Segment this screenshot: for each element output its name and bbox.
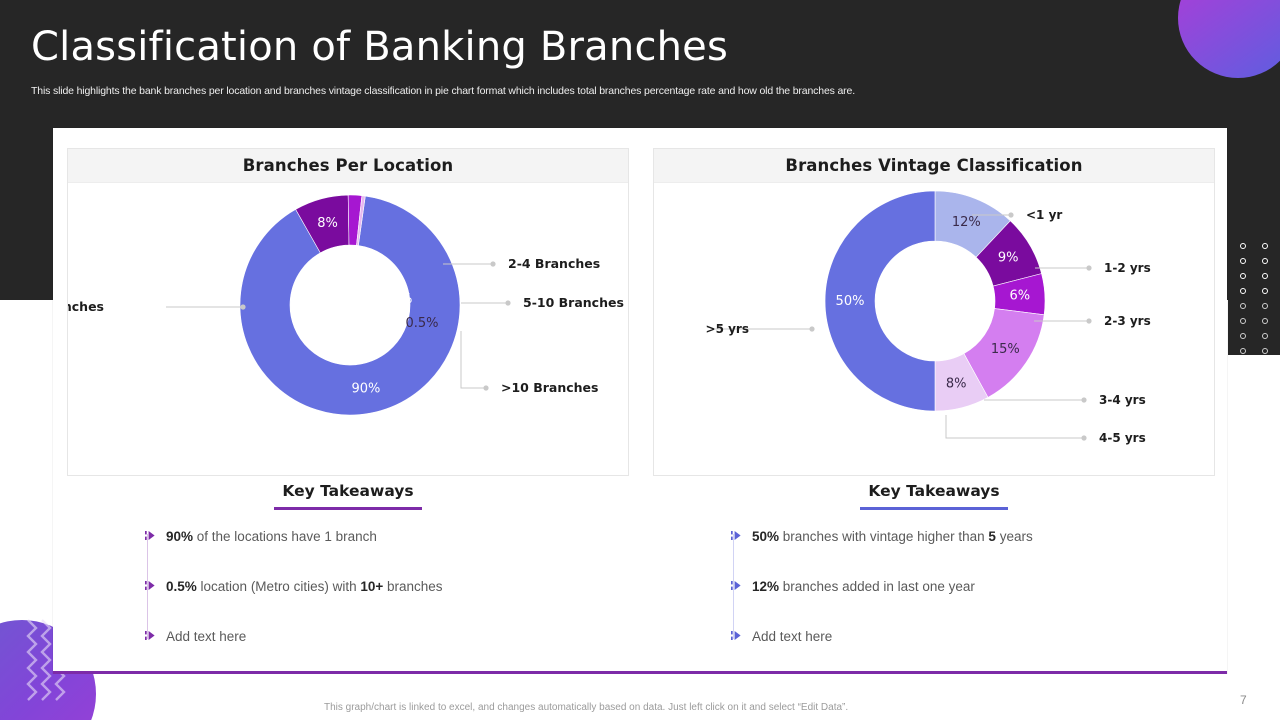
key-takeaway-item: 12% branches added in last one year bbox=[731, 578, 1215, 628]
key-takeaway-text: 0.5% location (Metro cities) with 10+ br… bbox=[166, 578, 443, 596]
chart-card-header: Branches Vintage Classification bbox=[654, 149, 1214, 183]
key-takeaways-list: 50% branches with vintage higher than 5 … bbox=[653, 528, 1215, 678]
page-number: 7 bbox=[1240, 693, 1247, 707]
slide-header: Classification of Banking Branches This … bbox=[0, 0, 1280, 120]
donut-svg: 90%8%2%0.5%1 Branches2-4 Branches5-10 Br… bbox=[68, 183, 628, 476]
key-takeaways-spine bbox=[733, 534, 734, 639]
key-takeaway-item: Add text here bbox=[731, 628, 1215, 678]
callout-leader-line bbox=[461, 331, 486, 388]
decorative-dot bbox=[1240, 303, 1246, 309]
key-takeaway-text: Add text here bbox=[752, 628, 832, 646]
page-title: Classification of Banking Branches bbox=[31, 24, 728, 70]
callout-label: 2-4 Branches bbox=[508, 256, 600, 271]
decorative-dot bbox=[1240, 243, 1246, 249]
callout-dot bbox=[809, 326, 814, 331]
decorative-dot bbox=[1262, 318, 1268, 324]
key-takeaways-title: Key Takeaways bbox=[653, 482, 1215, 500]
chart-title: Branches Per Location bbox=[243, 156, 454, 175]
donut-slice-value: 9% bbox=[998, 251, 1019, 266]
donut-slice-value: 90% bbox=[351, 381, 380, 396]
key-takeaway-text: 50% branches with vintage higher than 5 … bbox=[752, 528, 1033, 546]
callout-dot bbox=[1086, 265, 1091, 270]
callout-label: >10 Branches bbox=[501, 380, 598, 395]
decorative-dot bbox=[1240, 273, 1246, 279]
decorative-dot bbox=[1240, 288, 1246, 294]
callout-dot bbox=[1081, 435, 1086, 440]
callout-label: 3-4 yrs bbox=[1099, 393, 1146, 407]
panel-branches-per-location: Branches Per Location 90%8%2%0.5%1 Branc… bbox=[67, 148, 629, 476]
key-takeaway-text: Add text here bbox=[166, 628, 246, 646]
decorative-dot bbox=[1240, 258, 1246, 264]
donut-slice-value: 8% bbox=[317, 216, 338, 231]
key-takeaways-spine bbox=[147, 534, 148, 639]
key-takeaways-branches-vintage-classification: Key Takeaways 50% branches with vintage … bbox=[653, 482, 1215, 678]
donut-chart-branches-vintage-classification[interactable]: 12%9%6%15%8%50%<1 yr1-2 yrs2-3 yrs3-4 yr… bbox=[654, 183, 1214, 476]
donut-slice-value: 12% bbox=[952, 215, 981, 230]
decorative-dot-grid bbox=[1240, 243, 1280, 363]
chart-card-branches-vintage-classification: Branches Vintage Classification 12%9%6%1… bbox=[653, 148, 1215, 476]
key-takeaway-item: 90% of the locations have 1 branch bbox=[145, 528, 629, 578]
callout-leader-line bbox=[946, 415, 1084, 438]
key-takeaway-item: 0.5% location (Metro cities) with 10+ br… bbox=[145, 578, 629, 628]
content-card: Branches Per Location 90%8%2%0.5%1 Branc… bbox=[53, 128, 1227, 673]
donut-slice-value: 6% bbox=[1010, 289, 1031, 304]
donut-svg: 12%9%6%15%8%50%<1 yr1-2 yrs2-3 yrs3-4 yr… bbox=[654, 183, 1214, 476]
decorative-dot bbox=[1240, 348, 1246, 354]
decorative-dot bbox=[1262, 288, 1268, 294]
callout-dot bbox=[1008, 212, 1013, 217]
callout-label: 4-5 yrs bbox=[1099, 431, 1146, 445]
donut-chart-branches-per-location[interactable]: 90%8%2%0.5%1 Branches2-4 Branches5-10 Br… bbox=[68, 183, 628, 476]
donut-slice-value: 15% bbox=[991, 342, 1020, 357]
decorative-dot bbox=[1262, 243, 1268, 249]
chart-link-footnote: This graph/chart is linked to excel, and… bbox=[324, 702, 848, 713]
key-takeaways-underline bbox=[274, 507, 422, 510]
decorative-dot bbox=[1240, 318, 1246, 324]
callout-dot bbox=[1081, 397, 1086, 402]
key-takeaway-item: Add text here bbox=[145, 628, 629, 678]
panel-branches-vintage-classification: Branches Vintage Classification 12%9%6%1… bbox=[653, 148, 1215, 476]
callout-label: >5 yrs bbox=[706, 322, 749, 336]
key-takeaways-list: 90% of the locations have 1 branch0.5% l… bbox=[67, 528, 629, 678]
callout-label: 1 Branches bbox=[68, 299, 104, 314]
page-subtitle: This slide highlights the bank branches … bbox=[31, 85, 1091, 97]
decorative-dot bbox=[1262, 273, 1268, 279]
chart-card-branches-per-location: Branches Per Location 90%8%2%0.5%1 Branc… bbox=[67, 148, 629, 476]
donut-slice-value: 0.5% bbox=[405, 316, 438, 331]
key-takeaway-text: 90% of the locations have 1 branch bbox=[166, 528, 377, 546]
donut-slice-value: 50% bbox=[836, 294, 865, 309]
callout-dot bbox=[483, 385, 488, 390]
key-takeaways-underline bbox=[860, 507, 1008, 510]
callout-label: 1-2 yrs bbox=[1104, 261, 1151, 275]
decorative-dot bbox=[1240, 333, 1246, 339]
callout-dot bbox=[1086, 318, 1091, 323]
decorative-dot bbox=[1262, 348, 1268, 354]
key-takeaways-branches-per-location: Key Takeaways 90% of the locations have … bbox=[67, 482, 629, 678]
callout-label: 2-3 yrs bbox=[1104, 314, 1151, 328]
key-takeaway-item: 50% branches with vintage higher than 5 … bbox=[731, 528, 1215, 578]
donut-slice-value: 2% bbox=[392, 292, 413, 307]
callout-dot bbox=[490, 261, 495, 266]
chart-card-header: Branches Per Location bbox=[68, 149, 628, 183]
decorative-dot bbox=[1262, 333, 1268, 339]
callout-dot bbox=[505, 300, 510, 305]
callout-label: <1 yr bbox=[1026, 208, 1062, 222]
callout-label: 5-10 Branches bbox=[523, 295, 624, 310]
donut-slice-value: 8% bbox=[946, 376, 967, 391]
decorative-dot bbox=[1262, 258, 1268, 264]
key-takeaway-text: 12% branches added in last one year bbox=[752, 578, 975, 596]
decorative-dot bbox=[1262, 303, 1268, 309]
bottom-accent-bar bbox=[53, 671, 1227, 674]
key-takeaways-title: Key Takeaways bbox=[67, 482, 629, 500]
chart-title: Branches Vintage Classification bbox=[785, 156, 1082, 175]
callout-dot bbox=[240, 304, 245, 309]
